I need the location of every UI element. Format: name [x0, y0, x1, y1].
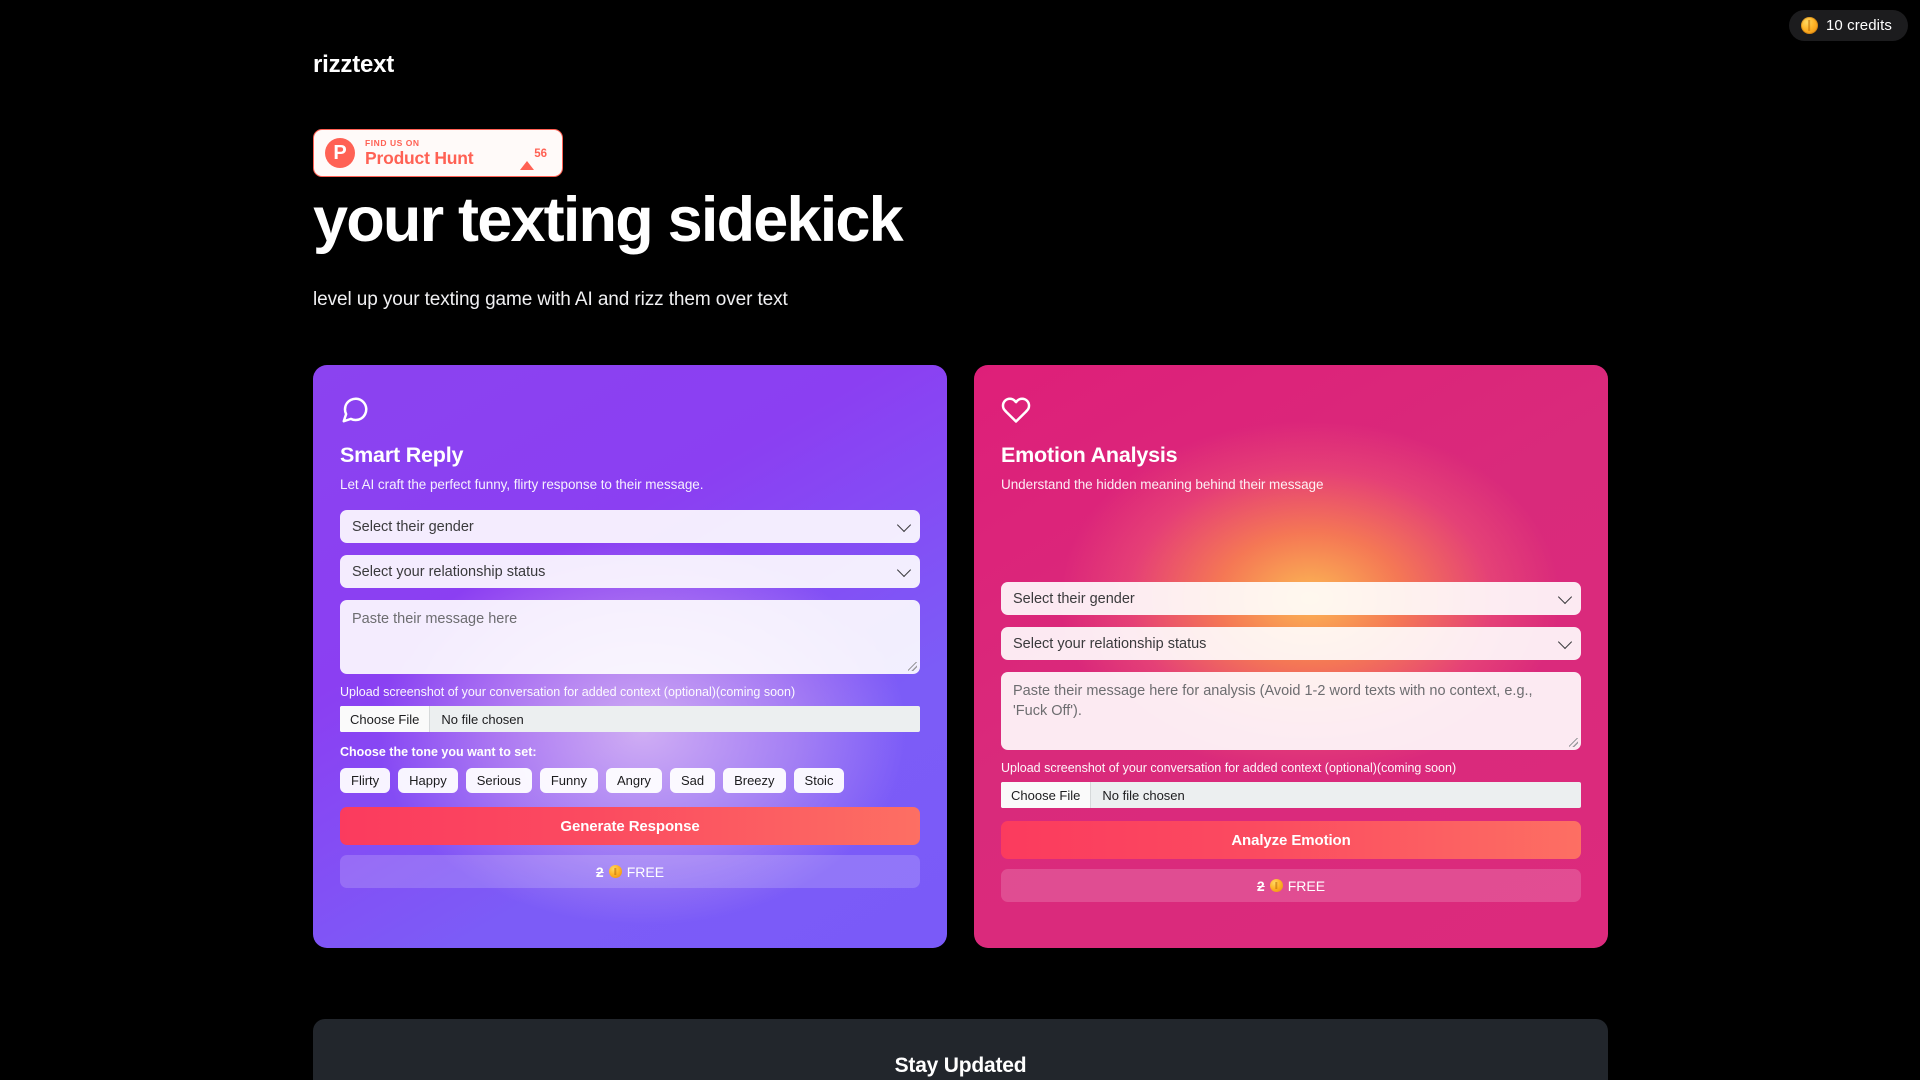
brand-logo[interactable]: rizztext — [313, 51, 394, 79]
product-hunt-text: FIND US ON Product Hunt — [365, 139, 510, 167]
coin-icon — [1801, 17, 1818, 34]
resize-handle[interactable] — [908, 662, 917, 671]
smart-reply-price-bar: 2 FREE — [340, 855, 920, 888]
smart-reply-message-placeholder: Paste their message here — [352, 611, 517, 627]
emotion-analysis-price-new: FREE — [1288, 878, 1325, 894]
tone-options: Flirty Happy Serious Funny Angry Sad Bre… — [340, 768, 920, 793]
smart-reply-upload-label: Upload screenshot of your conversation f… — [340, 685, 920, 699]
emotion-analysis-message-placeholder: Paste their message here for analysis (A… — [1013, 683, 1533, 719]
emotion-analysis-price-old: 2 — [1257, 878, 1265, 894]
page-subtitle: level up your texting game with AI and r… — [313, 289, 788, 311]
tone-option-breezy[interactable]: Breezy — [723, 768, 785, 793]
product-hunt-logo-icon: P — [325, 138, 355, 168]
generate-response-button[interactable]: Generate Response — [340, 807, 920, 845]
resize-handle[interactable] — [1569, 738, 1578, 747]
heart-icon — [1001, 395, 1031, 425]
product-hunt-upvote[interactable]: 56 — [520, 144, 551, 162]
product-hunt-name: Product Hunt — [365, 149, 510, 167]
product-hunt-upvote-count: 56 — [534, 148, 547, 160]
chevron-down-icon — [1558, 634, 1572, 648]
emotion-analysis-subtitle: Understand the hidden meaning behind the… — [1001, 477, 1581, 492]
smart-reply-file-status: No file chosen — [430, 706, 534, 732]
caret-up-icon — [520, 144, 534, 170]
newsletter-panel: Stay Updated — [313, 1019, 1608, 1080]
emotion-analysis-relationship-value: Select your relationship status — [1013, 636, 1206, 652]
chevron-down-icon — [897, 562, 911, 576]
app-root: 10 credits rizztext P FIND US ON Product… — [0, 0, 1920, 1080]
chevron-down-icon — [897, 517, 911, 531]
emotion-analysis-gender-select[interactable]: Select their gender — [1001, 582, 1581, 615]
smart-reply-price-old: 2 — [596, 864, 604, 880]
coin-icon — [609, 865, 622, 878]
chevron-down-icon — [1558, 589, 1572, 603]
analyze-emotion-button[interactable]: Analyze Emotion — [1001, 821, 1581, 859]
smart-reply-card: Smart Reply Let AI craft the perfect fun… — [313, 365, 947, 948]
smart-reply-relationship-select[interactable]: Select your relationship status — [340, 555, 920, 588]
tone-option-funny[interactable]: Funny — [540, 768, 598, 793]
smart-reply-price-new: FREE — [627, 864, 664, 880]
newsletter-title: Stay Updated — [895, 1054, 1027, 1078]
smart-reply-gender-value: Select their gender — [352, 519, 474, 535]
emotion-analysis-file-input[interactable]: Choose File No file chosen — [1001, 782, 1581, 808]
emotion-analysis-file-status: No file chosen — [1091, 782, 1195, 808]
smart-reply-title: Smart Reply — [340, 443, 920, 468]
emotion-analysis-title: Emotion Analysis — [1001, 443, 1581, 468]
smart-reply-choose-file-button[interactable]: Choose File — [340, 706, 430, 732]
tone-option-flirty[interactable]: Flirty — [340, 768, 390, 793]
tone-option-sad[interactable]: Sad — [670, 768, 715, 793]
chat-bubble-icon — [340, 395, 370, 425]
smart-reply-gender-select[interactable]: Select their gender — [340, 510, 920, 543]
tone-option-angry[interactable]: Angry — [606, 768, 662, 793]
emotion-analysis-choose-file-button[interactable]: Choose File — [1001, 782, 1091, 808]
emotion-analysis-message-input[interactable]: Paste their message here for analysis (A… — [1001, 672, 1581, 750]
tone-option-happy[interactable]: Happy — [398, 768, 458, 793]
product-hunt-kicker: FIND US ON — [365, 139, 510, 148]
emotion-analysis-price-bar: 2 FREE — [1001, 869, 1581, 902]
tone-option-stoic[interactable]: Stoic — [794, 768, 845, 793]
smart-reply-file-input[interactable]: Choose File No file chosen — [340, 706, 920, 732]
feature-cards: Smart Reply Let AI craft the perfect fun… — [313, 365, 1608, 948]
page-title: your texting sidekick — [313, 186, 902, 254]
smart-reply-message-input[interactable]: Paste their message here — [340, 600, 920, 674]
product-hunt-badge[interactable]: P FIND US ON Product Hunt 56 — [313, 129, 563, 177]
emotion-analysis-upload-label: Upload screenshot of your conversation f… — [1001, 761, 1581, 775]
smart-reply-relationship-value: Select your relationship status — [352, 564, 545, 580]
smart-reply-subtitle: Let AI craft the perfect funny, flirty r… — [340, 477, 920, 492]
tone-section-label: Choose the tone you want to set: — [340, 745, 920, 759]
credits-badge[interactable]: 10 credits — [1789, 10, 1908, 41]
credits-amount: 10 credits — [1826, 17, 1892, 34]
emotion-analysis-gender-value: Select their gender — [1013, 591, 1135, 607]
emotion-analysis-relationship-select[interactable]: Select your relationship status — [1001, 627, 1581, 660]
tone-option-serious[interactable]: Serious — [466, 768, 532, 793]
emotion-analysis-card: Emotion Analysis Understand the hidden m… — [974, 365, 1608, 948]
coin-icon — [1270, 879, 1283, 892]
